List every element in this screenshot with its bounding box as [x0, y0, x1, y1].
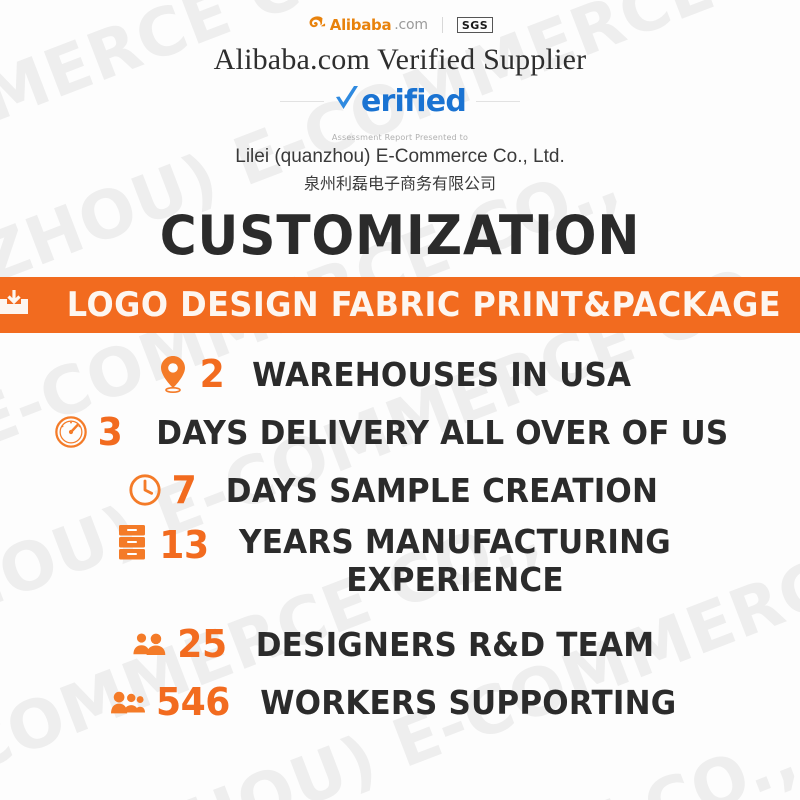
feature-label: WAREHOUSES IN USA [252, 355, 631, 394]
alibaba-swirl-icon [307, 14, 327, 37]
poster-root: LILEI (QUANZHOU) E-COMMERCE CO., LILEI (… [0, 0, 800, 800]
feature-row: 25 DESIGNERS R&D TEAM [0, 615, 800, 673]
divider-right [476, 101, 520, 102]
verified-supplier-title: Alibaba.com Verified Supplier [0, 43, 800, 77]
page-title: CUSTOMIZATION [28, 206, 772, 266]
sgs-badge: SGS [457, 17, 493, 33]
clock-icon [128, 472, 162, 508]
cabinet-icon [115, 523, 149, 561]
alibaba-logo-name: Alibaba [330, 16, 392, 34]
feature-row: 2 WAREHOUSES IN USA [0, 345, 800, 403]
assessment-label: Assessment Report Presented to [0, 133, 800, 142]
checkmark-icon [334, 84, 360, 119]
location-pin-icon [156, 355, 190, 393]
company-name-cn: 泉州利磊电子商务有限公司 [0, 170, 800, 194]
verified-badge: erified [334, 84, 466, 119]
feature-number: 7 [172, 468, 197, 512]
feature-number: 546 [156, 680, 230, 724]
company-name-en: Lilei (quanzhou) E-Commerce Co., Ltd. [0, 146, 800, 168]
features-list: 2 WAREHOUSES IN USA 3 D [0, 345, 800, 731]
feature-row: 3 DAYS DELIVERY ALL OVER OF US [0, 403, 800, 461]
feature-row: 546 WORKERS SUPPORTING [0, 673, 800, 731]
feature-number: 2 [200, 352, 225, 396]
feature-row: 7 DAYS SAMPLE CREATION [0, 461, 800, 519]
feature-label: DESIGNERS R&D TEAM [256, 625, 655, 664]
feature-label: DAYS DELIVERY ALL OVER OF US [156, 413, 728, 452]
feature-number: 25 [177, 622, 226, 666]
logo-bar: Alibaba .com SGS [0, 0, 800, 34]
logo-divider [442, 17, 443, 33]
feature-label: WORKERS SUPPORTING [260, 683, 676, 722]
feature-label: YEARS MANUFACTURING EXPERIENCE [239, 523, 671, 599]
feature-label: DAYS SAMPLE CREATION [226, 471, 658, 510]
speedometer-icon [54, 414, 88, 450]
alibaba-logo: Alibaba .com [307, 14, 428, 37]
feature-row: 13 YEARS MANUFACTURING EXPERIENCE [0, 519, 800, 615]
services-banner-text: LOGO DESIGN FABRIC PRINT&PACKAGE [66, 285, 780, 325]
verified-wordmark: erified [361, 87, 466, 117]
alibaba-logo-domain: .com [394, 17, 428, 33]
three-people-icon [111, 686, 145, 718]
feature-number: 13 [159, 523, 208, 567]
verified-badge-row: erified [0, 84, 800, 119]
inbox-download-icon [0, 287, 31, 324]
services-banner: LOGO DESIGN FABRIC PRINT&PACKAGE [0, 277, 800, 333]
divider-left [280, 101, 324, 102]
feature-number: 3 [97, 410, 122, 454]
two-people-icon [133, 628, 167, 660]
